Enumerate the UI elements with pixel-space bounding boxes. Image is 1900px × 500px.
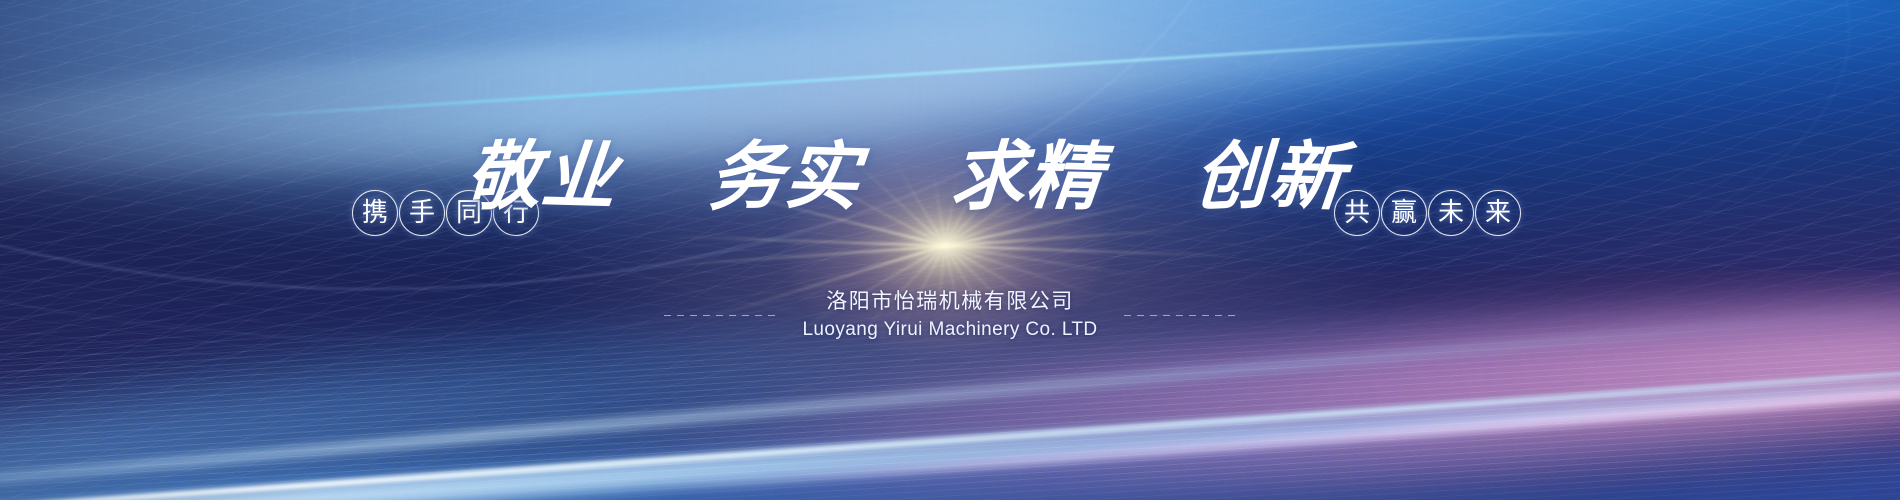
circled-char-shou: 手 bbox=[399, 190, 445, 236]
company-names: 洛阳市怡瑞机械有限公司 Luoyang Yirui Machinery Co. … bbox=[802, 288, 1097, 342]
circled-char-xie: 携 bbox=[352, 190, 398, 236]
company-identity-block: 洛阳市怡瑞机械有限公司 Luoyang Yirui Machinery Co. … bbox=[0, 288, 1900, 342]
slogan-char-wu: 务 bbox=[707, 138, 786, 215]
company-name-chinese: 洛阳市怡瑞机械有限公司 bbox=[826, 288, 1074, 314]
circled-char-gong: 共 bbox=[1334, 190, 1380, 236]
slogan-char-ye: 业 bbox=[539, 139, 622, 215]
circled-char-lai: 来 bbox=[1475, 190, 1521, 236]
banner-content: 携 手 同 行 敬 业 务 实 求 精 创 新 共 赢 bbox=[0, 0, 1900, 500]
circled-phrase-right: 共 赢 未 来 bbox=[1334, 190, 1521, 236]
slogan-word-chuangxin: 创 新 bbox=[1194, 140, 1346, 214]
slogan-word-jingye: 敬 业 bbox=[466, 140, 618, 214]
company-name-english: Luoyang Yirui Machinery Co. LTD bbox=[802, 318, 1097, 342]
slogan-char-qiu: 求 bbox=[950, 138, 1029, 215]
slogan-word-qiujing: 求 精 bbox=[951, 140, 1103, 214]
slogan-char-chuang: 创 bbox=[1192, 138, 1271, 215]
slogan-char-shi: 实 bbox=[781, 139, 864, 215]
slogan-char-jing: 敬 bbox=[464, 138, 543, 215]
circled-char-wei: 未 bbox=[1428, 190, 1474, 236]
dashed-rule-left bbox=[664, 315, 776, 316]
company-culture-banner: 携 手 同 行 敬 业 务 实 求 精 创 新 共 赢 bbox=[0, 0, 1900, 500]
slogan-word-wushi: 务 实 bbox=[709, 140, 861, 214]
circled-char-ying: 赢 bbox=[1381, 190, 1427, 236]
slogan-calligraphy: 敬 业 务 实 求 精 创 新 bbox=[466, 122, 1346, 232]
slogan-char-jing2: 精 bbox=[1024, 139, 1107, 215]
dashed-rule-right bbox=[1124, 315, 1236, 316]
